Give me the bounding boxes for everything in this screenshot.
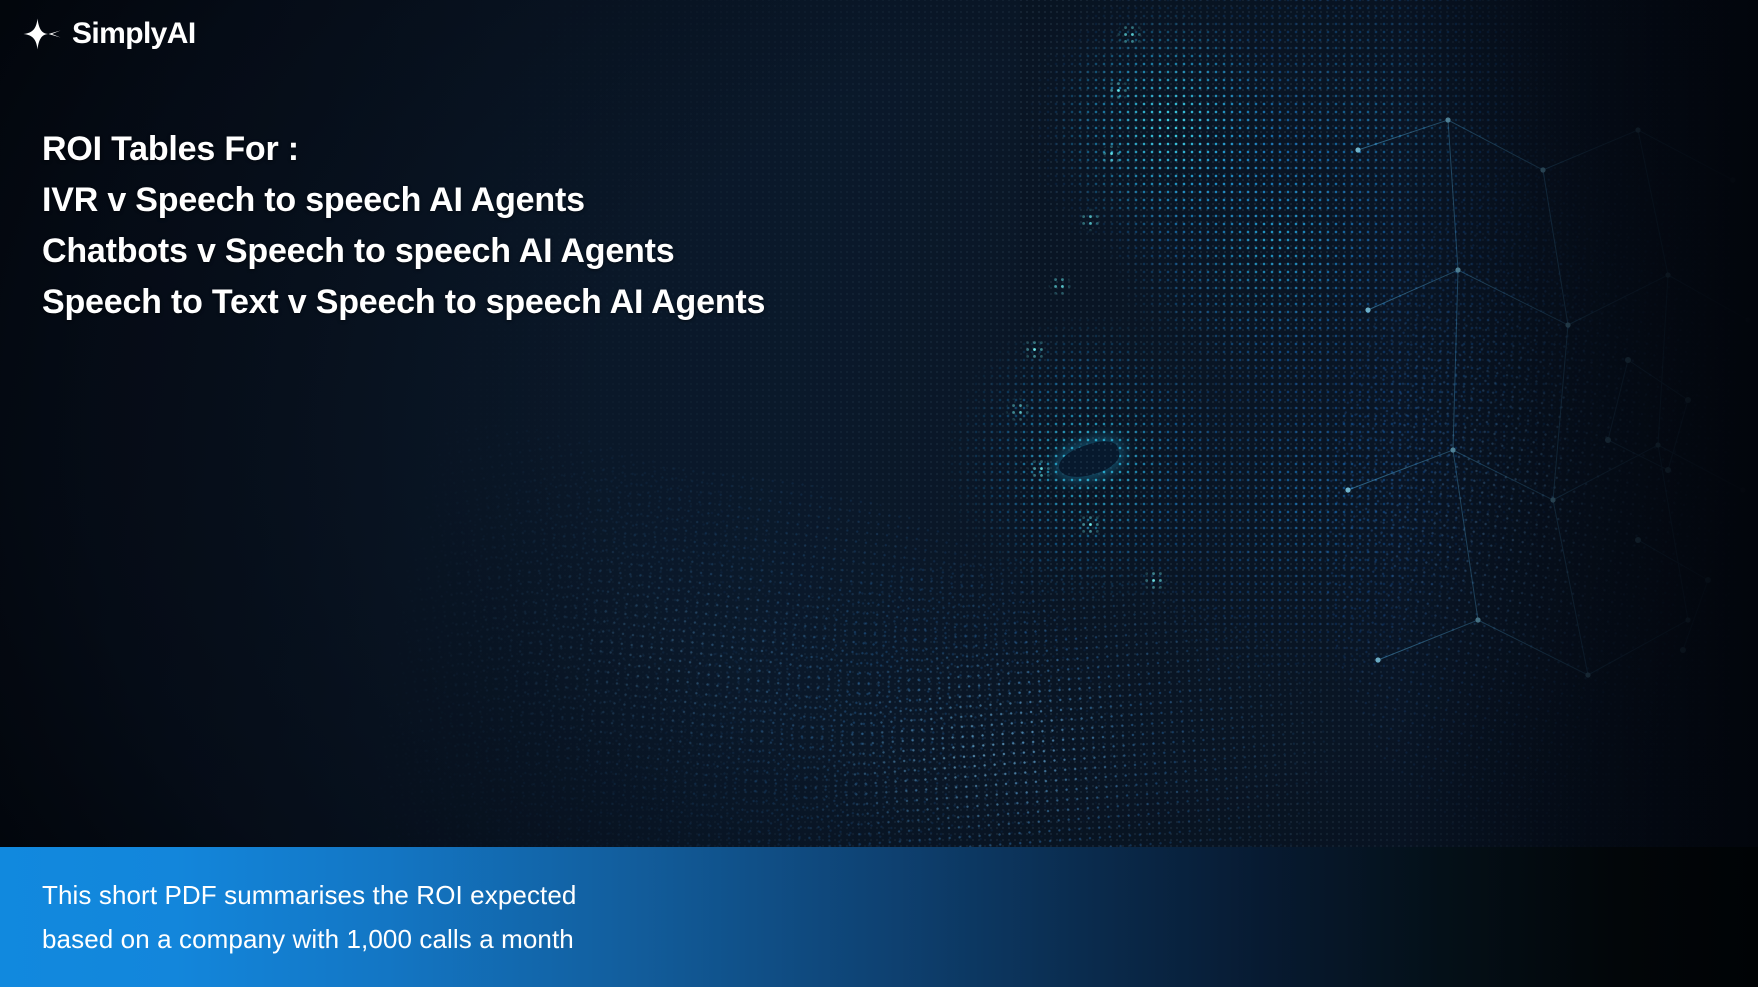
- cover-page: SimplyAI ROI Tables For : IVR v Speech t…: [0, 0, 1758, 987]
- headline-line-1: ROI Tables For :: [42, 124, 765, 175]
- headline-line-4: Speech to Text v Speech to speech AI Age…: [42, 277, 765, 328]
- brand-name: SimplyAI: [72, 19, 196, 49]
- banner-line-2: based on a company with 1,000 calls a mo…: [42, 917, 1758, 961]
- brand-logo[interactable]: SimplyAI: [22, 14, 196, 54]
- banner-line-1: This short PDF summarises the ROI expect…: [42, 873, 1758, 917]
- headline-line-2: IVR v Speech to speech AI Agents: [42, 175, 765, 226]
- summary-banner: This short PDF summarises the ROI expect…: [0, 847, 1758, 987]
- sparkle-star-icon: [22, 14, 62, 54]
- headline-line-3: Chatbots v Speech to speech AI Agents: [42, 226, 765, 277]
- page-title: ROI Tables For : IVR v Speech to speech …: [42, 124, 765, 328]
